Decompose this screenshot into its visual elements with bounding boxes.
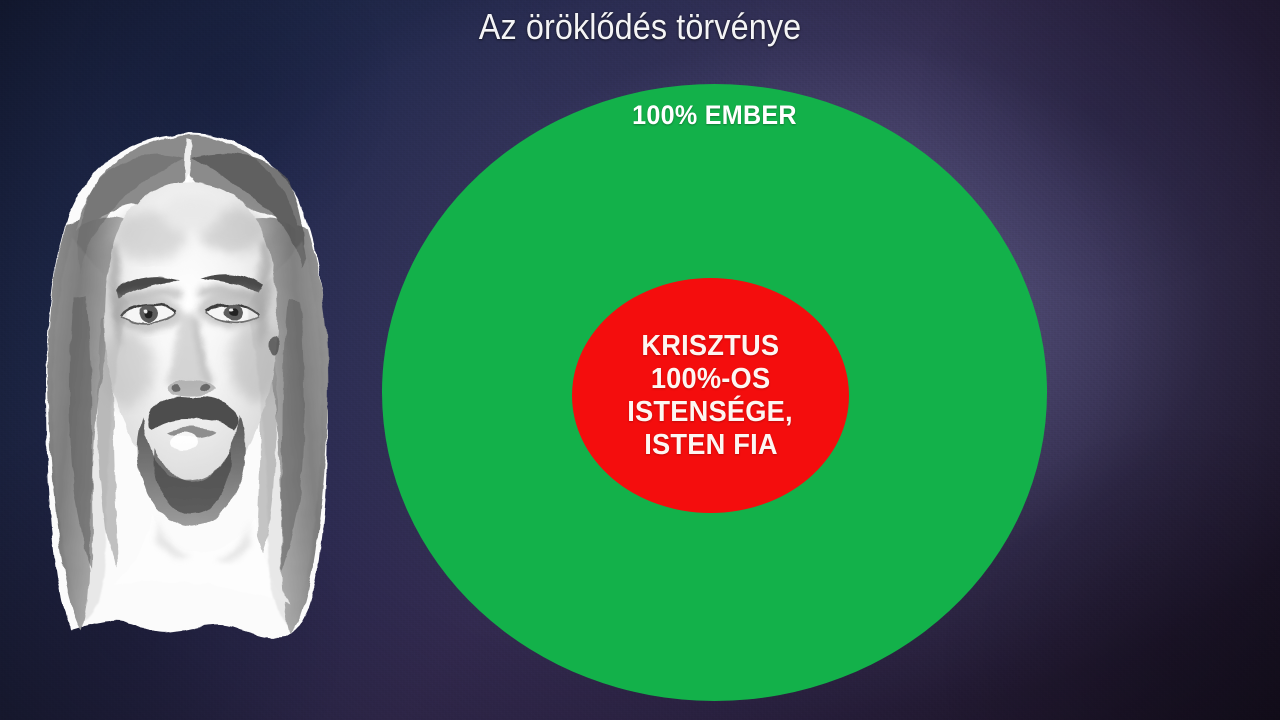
page-title: Az öröklődés törvénye (64, 6, 1216, 48)
inner-label-line-4: ISTEN FIA (644, 431, 777, 460)
inner-label-line-3: ISTENSÉGE, (628, 398, 793, 427)
lower-lip-highlight (170, 433, 198, 451)
jesus-face-svg (2, 118, 374, 652)
outer-circle-human[interactable]: 100% EMBER KRISZTUS 100%-OS ISTENSÉGE, I… (382, 84, 1047, 701)
outer-circle-label: 100% EMBER (405, 100, 1023, 131)
slide-canvas: Az öröklődés törvénye (0, 0, 1280, 720)
forehead-highlight (162, 196, 222, 232)
inner-ellipse-divinity[interactable]: KRISZTUS 100%-OS ISTENSÉGE, ISTEN FIA (572, 278, 849, 513)
inner-label-line-1: KRISZTUS (642, 332, 780, 361)
inner-label-line-2: 100%-OS (651, 365, 771, 394)
jesus-face-illustration (2, 118, 374, 652)
